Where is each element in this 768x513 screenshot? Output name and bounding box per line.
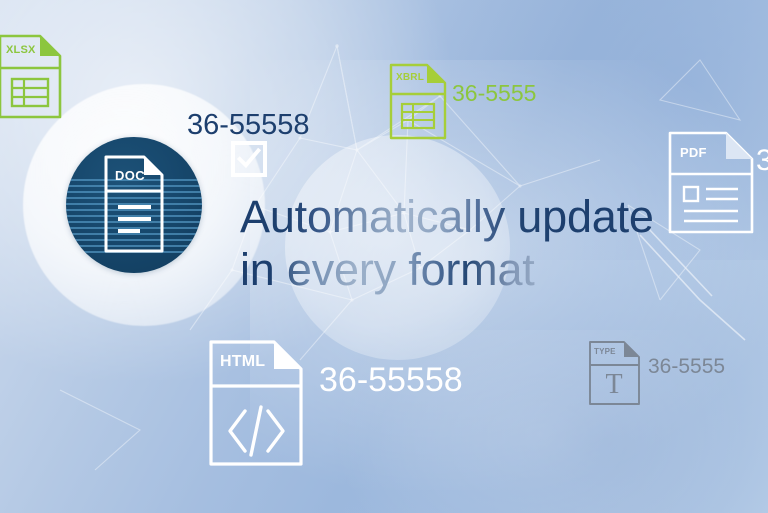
checkmark-icon bbox=[235, 145, 263, 173]
file-number-pdf: 3 bbox=[756, 146, 768, 176]
headline-line-2: in every format bbox=[240, 244, 654, 297]
file-number-html: 36-55558 bbox=[319, 363, 463, 397]
file-icon-xbrl: XBRL bbox=[389, 63, 447, 140]
hero-banner: DOC XLSX XBRL 36-5555 bbox=[0, 0, 768, 513]
doc-badge: DOC bbox=[66, 137, 202, 273]
checkbox[interactable] bbox=[231, 141, 267, 177]
file-tag-type: TYPE bbox=[594, 348, 616, 356]
doc-badge-label: DOC bbox=[115, 169, 145, 182]
file-tag-xbrl: XBRL bbox=[396, 73, 424, 83]
file-icon-type: T TYPE bbox=[588, 340, 641, 406]
file-number-type: 36-5555 bbox=[648, 356, 725, 377]
number-top-navy: 36-55558 bbox=[187, 111, 310, 140]
file-icon-xlsx: XLSX bbox=[0, 34, 62, 119]
file-icon-html: HTML bbox=[208, 339, 304, 467]
file-tag-pdf: PDF bbox=[680, 146, 707, 159]
file-icon-pdf: PDF bbox=[668, 131, 754, 234]
headline-line-1: Automatically update bbox=[240, 191, 654, 244]
headline: Automatically update in every format bbox=[240, 191, 654, 296]
file-number-xbrl: 36-5555 bbox=[452, 82, 536, 105]
file-tag-xlsx: XLSX bbox=[6, 45, 36, 56]
svg-text:T: T bbox=[605, 369, 622, 400]
file-tag-html: HTML bbox=[220, 354, 265, 370]
